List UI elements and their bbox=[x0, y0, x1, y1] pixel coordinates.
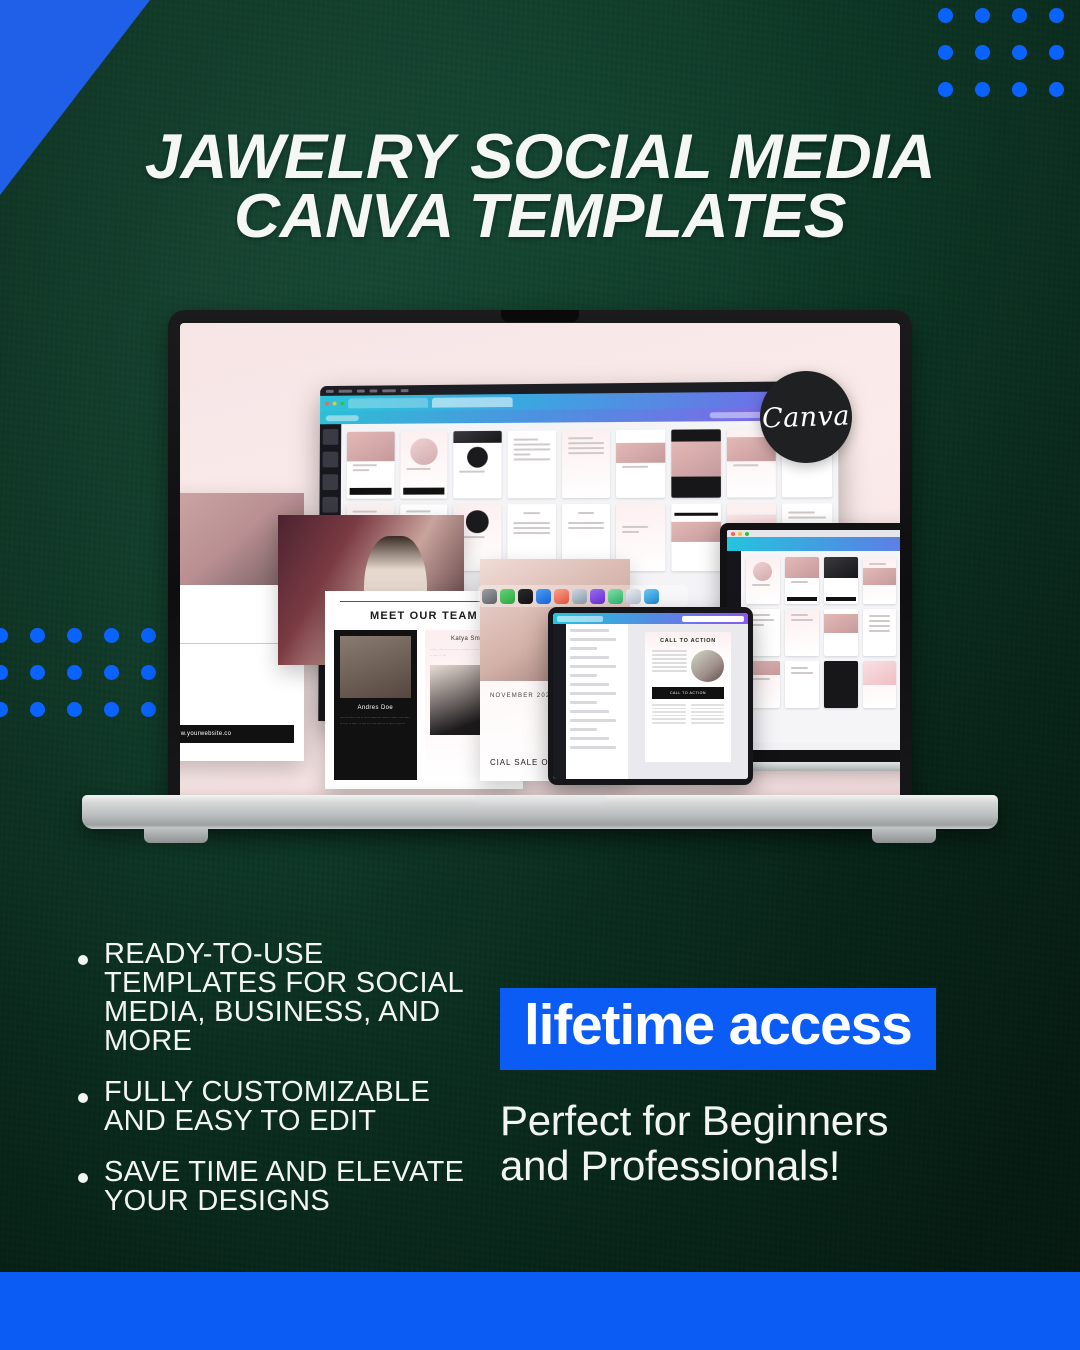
rail-item bbox=[322, 497, 338, 513]
headline-line-2: CANVA TEMPLATES bbox=[0, 188, 1080, 247]
os-dock bbox=[478, 585, 688, 607]
list-item bbox=[570, 710, 609, 713]
template-thumbnail bbox=[824, 661, 858, 708]
template-thumbnail bbox=[671, 503, 720, 571]
minimize-icon bbox=[738, 532, 742, 536]
promo-subtitle-line-1: Perfect for Beginners bbox=[500, 1098, 1020, 1143]
promo-subtitle-line-2: and Professionals! bbox=[500, 1143, 1020, 1188]
laptop-screen: VICE A ING GU siness Name H ·········· ·… bbox=[180, 323, 900, 799]
tablet-design-page: CALL TO ACTION CALL TO ACTION bbox=[645, 632, 731, 762]
decor-dot bbox=[1049, 82, 1064, 97]
dock-icon-app bbox=[536, 589, 551, 604]
tablet-page-image bbox=[691, 650, 724, 682]
list-item bbox=[570, 647, 597, 650]
menu-item bbox=[382, 389, 396, 392]
decor-dot bbox=[67, 628, 82, 643]
decor-dot bbox=[975, 45, 990, 60]
list-item bbox=[570, 665, 616, 668]
laptop-base bbox=[82, 795, 998, 829]
dock-icon-app bbox=[554, 589, 569, 604]
tablet-side-rail bbox=[553, 624, 566, 779]
template-thumbnail bbox=[507, 430, 555, 497]
tablet-font-list bbox=[566, 624, 628, 779]
menu-item bbox=[339, 389, 353, 392]
canva-logo-badge: Canva bbox=[760, 371, 852, 463]
bullet-text: SAVE TIME AND ELEVATE YOUR DESIGNS bbox=[104, 1158, 498, 1216]
list-item: READY-TO-USE TEMPLATES FOR SOCIAL MEDIA,… bbox=[78, 940, 498, 1056]
page-title: JAWELRY SOCIAL MEDIA CANVA TEMPLATES bbox=[0, 128, 1080, 247]
decor-dot bbox=[938, 45, 953, 60]
template-thumbnail bbox=[863, 661, 897, 708]
service-card-cta: w.yourwebsite.co bbox=[180, 725, 294, 743]
bullet-dot-icon bbox=[78, 1173, 88, 1183]
secondary-browser-chrome bbox=[727, 530, 900, 537]
tablet-screen: CALL TO ACTION CALL TO ACTION bbox=[553, 613, 748, 779]
tablet-page-media bbox=[652, 650, 724, 682]
template-thumbnail bbox=[562, 430, 611, 498]
list-item bbox=[570, 719, 616, 722]
team-member-photo bbox=[340, 636, 411, 698]
list-item bbox=[570, 629, 609, 632]
maximize-icon bbox=[340, 402, 344, 406]
list-item bbox=[570, 683, 609, 686]
bottom-accent-bar bbox=[0, 1272, 1080, 1350]
template-thumbnail bbox=[616, 430, 665, 498]
template-thumbnail bbox=[746, 557, 780, 604]
divider bbox=[180, 643, 294, 644]
decor-dot bbox=[1049, 45, 1064, 60]
maximize-icon bbox=[745, 532, 749, 536]
rail-item bbox=[322, 474, 338, 490]
menu-item bbox=[326, 389, 334, 392]
secondary-canva-toolbar bbox=[727, 537, 900, 551]
dock-icon-app bbox=[572, 589, 587, 604]
share-button bbox=[682, 616, 744, 622]
template-thumbnail bbox=[824, 609, 858, 656]
browser-tab-active bbox=[432, 397, 513, 408]
tablet-workspace: CALL TO ACTION CALL TO ACTION bbox=[553, 624, 748, 779]
template-thumbnail bbox=[863, 557, 897, 604]
template-thumbnail bbox=[347, 432, 395, 499]
template-thumbnail bbox=[785, 609, 819, 656]
browser-tab bbox=[348, 398, 428, 409]
laptop-base-notch bbox=[474, 795, 606, 806]
template-thumbnail bbox=[454, 431, 502, 498]
list-item bbox=[570, 674, 597, 677]
decor-dot bbox=[0, 628, 8, 643]
laptop-lid: VICE A ING GU siness Name H ·········· ·… bbox=[168, 310, 912, 815]
tablet-page-title: CALL TO ACTION bbox=[652, 638, 724, 644]
rail-item bbox=[323, 429, 339, 445]
lifetime-access-badge: lifetime access bbox=[500, 988, 936, 1070]
promo-block: lifetime access Perfect for Beginners an… bbox=[500, 988, 1020, 1189]
canva-wordmark: Canva bbox=[761, 400, 850, 434]
tablet-mockup: CALL TO ACTION CALL TO ACTION bbox=[548, 607, 753, 785]
decor-dot bbox=[938, 8, 953, 23]
dock-icon-app bbox=[590, 589, 605, 604]
rail-item bbox=[323, 452, 339, 468]
list-item bbox=[570, 701, 597, 704]
tablet-page-button: CALL TO ACTION bbox=[652, 687, 724, 699]
headline-line-1: JAWELRY SOCIAL MEDIA bbox=[0, 128, 1080, 188]
decor-dot bbox=[0, 702, 8, 717]
team-member-card: Andres Doe ······· ····· ···· ·· ····· ·… bbox=[334, 630, 417, 780]
template-thumbnail bbox=[863, 609, 897, 656]
list-item bbox=[570, 737, 609, 740]
decor-dot bbox=[30, 665, 45, 680]
tablet-page-text bbox=[652, 650, 687, 682]
bullet-dot-icon bbox=[78, 955, 88, 965]
template-thumbnail bbox=[824, 557, 858, 604]
menu-item bbox=[370, 389, 378, 392]
team-member-bio: ······· ····· ···· ·· ····· ········· ··… bbox=[340, 715, 411, 727]
team-member-name: Andres Doe bbox=[340, 705, 411, 711]
list-item bbox=[570, 692, 616, 695]
decor-dot bbox=[1049, 8, 1064, 23]
decor-dot bbox=[67, 665, 82, 680]
dock-icon-app bbox=[644, 589, 659, 604]
close-icon bbox=[325, 402, 329, 406]
dot-grid-top-right bbox=[938, 8, 1064, 97]
service-card-body: ·········· ··········· ············· ···… bbox=[180, 665, 304, 686]
template-thumbnail bbox=[785, 661, 819, 708]
dock-icon-app bbox=[626, 589, 641, 604]
tablet-page-columns bbox=[652, 704, 724, 726]
dock-icon-app bbox=[518, 589, 533, 604]
decor-dot bbox=[0, 665, 8, 680]
menu-item bbox=[401, 389, 409, 392]
toolbar-control bbox=[326, 415, 359, 421]
decor-dot bbox=[67, 702, 82, 717]
promo-subtitle: Perfect for Beginners and Professionals! bbox=[500, 1098, 1020, 1189]
list-item bbox=[570, 746, 616, 749]
bullet-text: FULLY CUSTOMIZABLE AND EASY TO EDIT bbox=[104, 1078, 498, 1136]
toolbar-control bbox=[557, 616, 603, 622]
feature-bullet-list: READY-TO-USE TEMPLATES FOR SOCIAL MEDIA,… bbox=[78, 940, 498, 1238]
list-item bbox=[570, 638, 616, 641]
decor-dot bbox=[1012, 82, 1027, 97]
list-item bbox=[570, 728, 597, 731]
decor-dot bbox=[1012, 8, 1027, 23]
laptop-foot-right bbox=[872, 827, 936, 843]
dock-icon-app bbox=[608, 589, 623, 604]
bullet-dot-icon bbox=[78, 1093, 88, 1103]
tablet-canvas: CALL TO ACTION CALL TO ACTION bbox=[628, 624, 748, 779]
list-item: FULLY CUSTOMIZABLE AND EASY TO EDIT bbox=[78, 1078, 498, 1136]
menu-item bbox=[357, 389, 365, 392]
close-icon bbox=[731, 532, 735, 536]
laptop-foot-left bbox=[144, 827, 208, 843]
secondary-template-grid bbox=[741, 551, 900, 743]
tablet-canva-toolbar bbox=[553, 613, 748, 624]
list-item: SAVE TIME AND ELEVATE YOUR DESIGNS bbox=[78, 1158, 498, 1216]
decor-dot bbox=[30, 628, 45, 643]
laptop-camera-notch bbox=[501, 310, 579, 322]
dock-icon-finder bbox=[482, 589, 497, 604]
laptop-mockup: VICE A ING GU siness Name H ·········· ·… bbox=[82, 310, 998, 855]
decor-dot bbox=[938, 82, 953, 97]
bullet-text: READY-TO-USE TEMPLATES FOR SOCIAL MEDIA,… bbox=[104, 940, 498, 1056]
list-item bbox=[570, 656, 609, 659]
template-thumbnail bbox=[785, 557, 819, 604]
template-thumbnail bbox=[400, 431, 448, 498]
decor-dot bbox=[975, 82, 990, 97]
dock-icon-app bbox=[500, 589, 515, 604]
decor-dot bbox=[975, 8, 990, 23]
minimize-icon bbox=[333, 402, 337, 406]
decor-dot bbox=[1012, 45, 1027, 60]
template-thumbnail bbox=[671, 429, 720, 497]
decor-dot bbox=[30, 702, 45, 717]
